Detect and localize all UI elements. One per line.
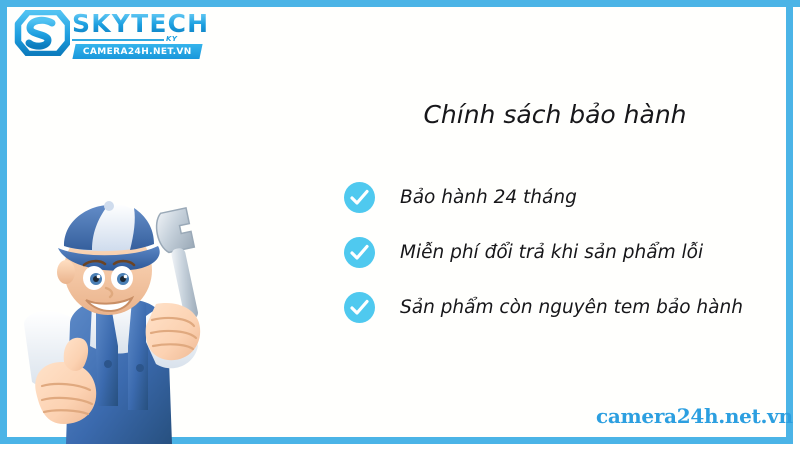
logo-url-text: CAMERA24H.NET.VN [83,47,192,57]
benefit-label: Sản phẩm còn nguyên tem bảo hành [400,297,743,318]
page-title: Chính sách bảo hành [330,100,780,129]
frame-border-right [786,0,793,444]
logo-suffix: KY [166,35,178,43]
check-circle-icon [344,292,375,323]
warranty-policy-banner: SKYTECH KY CAMERA24H.NET.VN Chính sách b… [0,0,800,450]
list-item: Bảo hành 24 tháng [344,170,784,225]
check-circle-icon [344,182,375,213]
benefit-label: Bảo hành 24 tháng [400,187,577,208]
list-item: Sản phẩm còn nguyên tem bảo hành [344,280,784,335]
frame-border-top [0,0,800,7]
brand-logo[interactable]: SKYTECH KY CAMERA24H.NET.VN [14,8,199,60]
hexagon-s-logo-icon [14,10,70,56]
benefit-list: Bảo hành 24 tháng Miễn phí đổi trả khi s… [344,170,784,335]
handyman-thumbs-up-illustration [22,196,248,444]
logo-wordmark: SKYTECH [72,11,209,36]
logo-divider-rule [72,39,164,41]
check-circle-icon [344,237,375,268]
frame-border-left [0,0,7,444]
logo-url-ribbon: CAMERA24H.NET.VN [72,44,202,59]
site-watermark: camera24h.net.vn [596,404,793,428]
list-item: Miễn phí đổi trả khi sản phẩm lỗi [344,225,784,280]
benefit-label: Miễn phí đổi trả khi sản phẩm lỗi [400,242,703,263]
